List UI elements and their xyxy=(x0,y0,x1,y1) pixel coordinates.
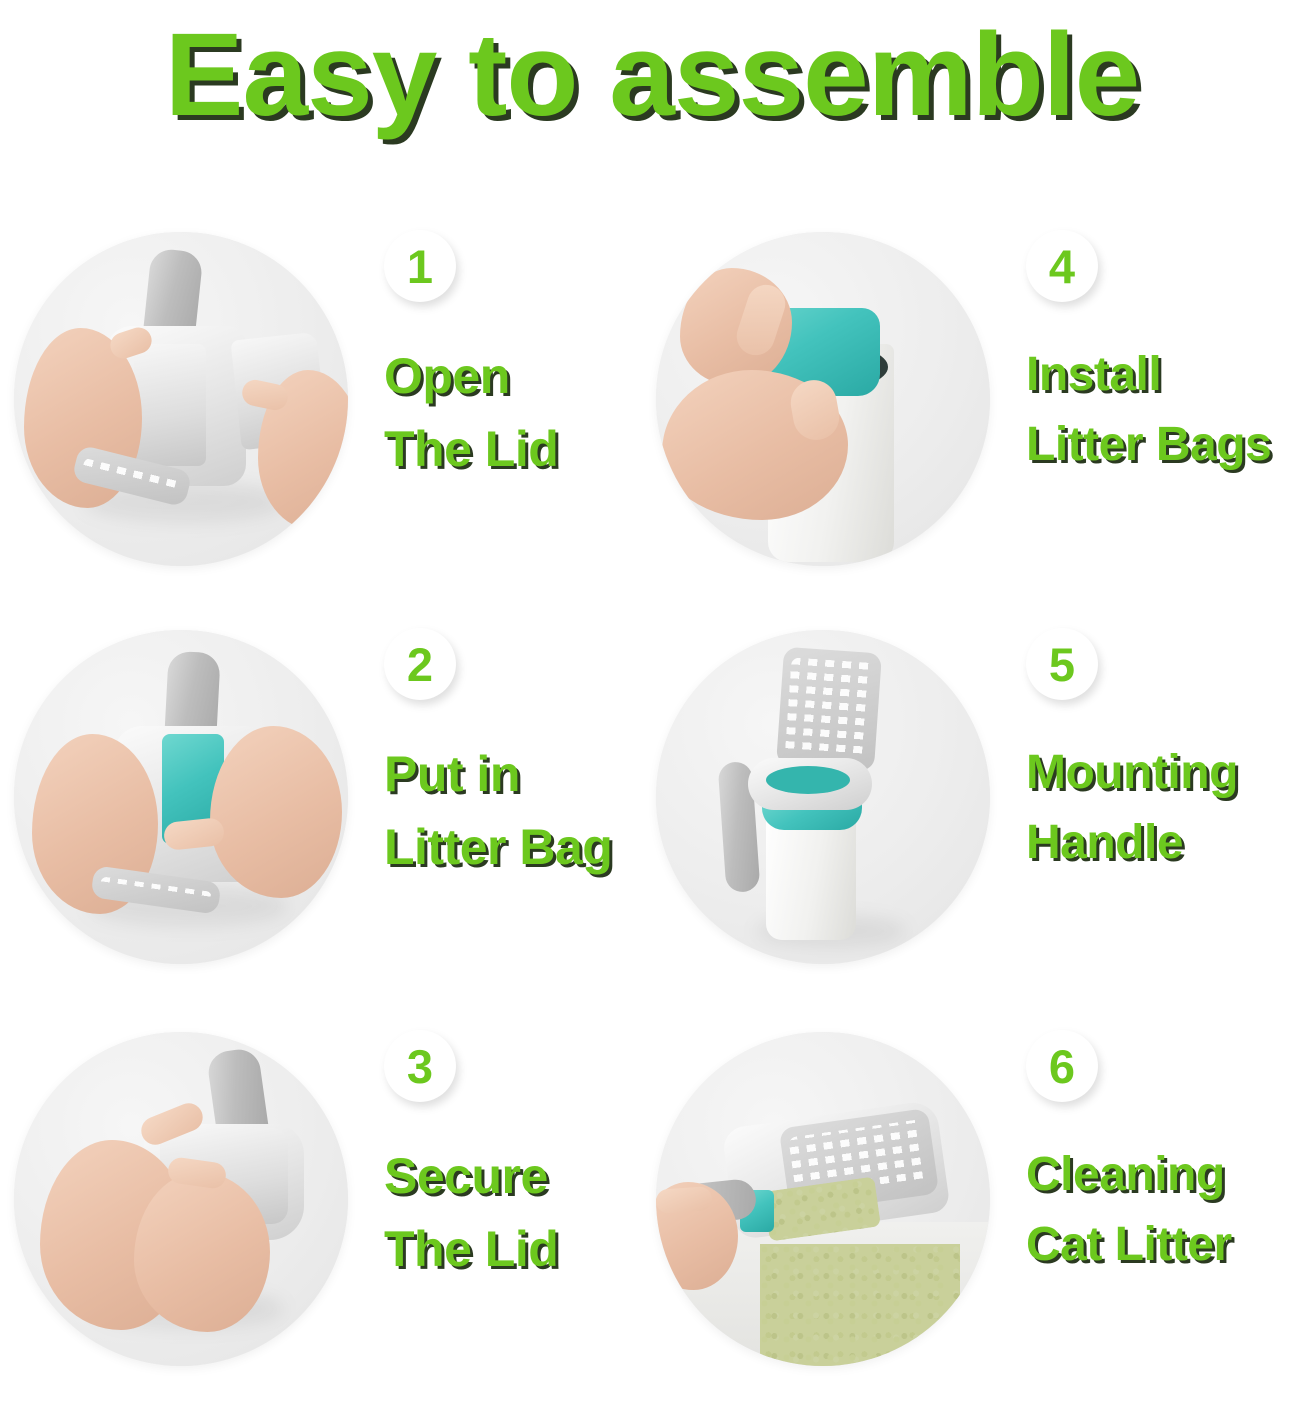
step-label-3-line2: The Lid xyxy=(384,1213,648,1286)
step-label-4-line1: Install xyxy=(1026,348,1161,401)
step-label-6-line1: Cleaning xyxy=(1026,1148,1225,1201)
step-item-4: 4 Install Litter Bags xyxy=(650,218,1290,613)
step-number-4: 4 xyxy=(1049,243,1075,290)
step-label-2: Put in Litter Bag xyxy=(384,738,648,883)
step-label-3-line1: Secure xyxy=(384,1148,548,1204)
step-item-1: 1 Open The Lid xyxy=(8,218,648,613)
scoop-mesh-head-5 xyxy=(776,647,882,772)
step-label-5-line2: Handle xyxy=(1026,808,1290,878)
step-badge-4: 4 xyxy=(1026,230,1098,302)
steps-grid: 1 Open The Lid xyxy=(0,218,1304,1401)
step-label-1-line1: Open xyxy=(384,348,510,404)
step-photo-4 xyxy=(656,232,990,566)
step-label-1-line2: The Lid xyxy=(384,413,648,486)
step-label-2-line2: Litter Bag xyxy=(384,811,648,884)
step-label-5: Mounting Handle xyxy=(1026,738,1290,877)
step-item-6: 6 Cleaning Cat Litter xyxy=(650,1018,1290,1401)
step-badge-3: 3 xyxy=(384,1030,456,1102)
mesh-holes-5 xyxy=(785,657,874,760)
step-text-5: 5 Mounting Handle xyxy=(1020,616,1290,877)
mesh-holes-2 xyxy=(100,876,213,903)
right-hand-3 xyxy=(134,1172,270,1332)
infographic-page: Easy to assemble 1 xyxy=(0,0,1304,1401)
thumb-6 xyxy=(656,1186,713,1214)
step-label-5-line1: Mounting xyxy=(1026,746,1238,799)
step-label-6-line2: Cat Litter xyxy=(1026,1210,1290,1280)
step-photo-5 xyxy=(656,630,990,964)
step-badge-6: 6 xyxy=(1026,1030,1098,1102)
right-hand-2 xyxy=(210,726,342,898)
step-photo-6 xyxy=(656,1032,990,1366)
litter-bed-6 xyxy=(760,1244,960,1366)
step-number-2: 2 xyxy=(407,641,433,688)
step-number-6: 6 xyxy=(1049,1043,1075,1090)
step-number-3: 3 xyxy=(407,1043,433,1090)
step-text-6: 6 Cleaning Cat Litter xyxy=(1020,1018,1290,1279)
step-badge-5: 5 xyxy=(1026,628,1098,700)
step-item-2: 2 Put in Litter Bag xyxy=(8,616,648,1011)
step-badge-2: 2 xyxy=(384,628,456,700)
step-text-3: 3 Secure The Lid xyxy=(378,1018,648,1285)
step-label-6: Cleaning Cat Litter xyxy=(1026,1140,1290,1279)
step-text-2: 2 Put in Litter Bag xyxy=(378,616,648,883)
step-label-1: Open The Lid xyxy=(384,340,648,485)
page-title: Easy to assemble xyxy=(165,16,1139,134)
step-photo-1 xyxy=(14,232,348,566)
step-number-1: 1 xyxy=(407,243,433,290)
step-photo-3 xyxy=(14,1032,348,1366)
step-photo-2 xyxy=(14,630,348,964)
step-item-5: 5 Mounting Handle xyxy=(650,616,1290,1011)
step-text-1: 1 Open The Lid xyxy=(378,218,648,485)
step-label-2-line1: Put in xyxy=(384,746,520,802)
step-label-3: Secure The Lid xyxy=(384,1140,648,1285)
step-label-4-line2: Litter Bags xyxy=(1026,410,1290,480)
step-number-5: 5 xyxy=(1049,641,1075,688)
scoop-inner-slot-1 xyxy=(134,344,206,466)
step-badge-1: 1 xyxy=(384,230,456,302)
step-label-4: Install Litter Bags xyxy=(1026,340,1290,479)
page-title-area: Easy to assemble xyxy=(0,0,1304,150)
step-item-3: 3 Secure The Lid xyxy=(8,1018,648,1401)
bag-inside-opening-5 xyxy=(766,766,850,794)
step-text-4: 4 Install Litter Bags xyxy=(1020,218,1290,479)
